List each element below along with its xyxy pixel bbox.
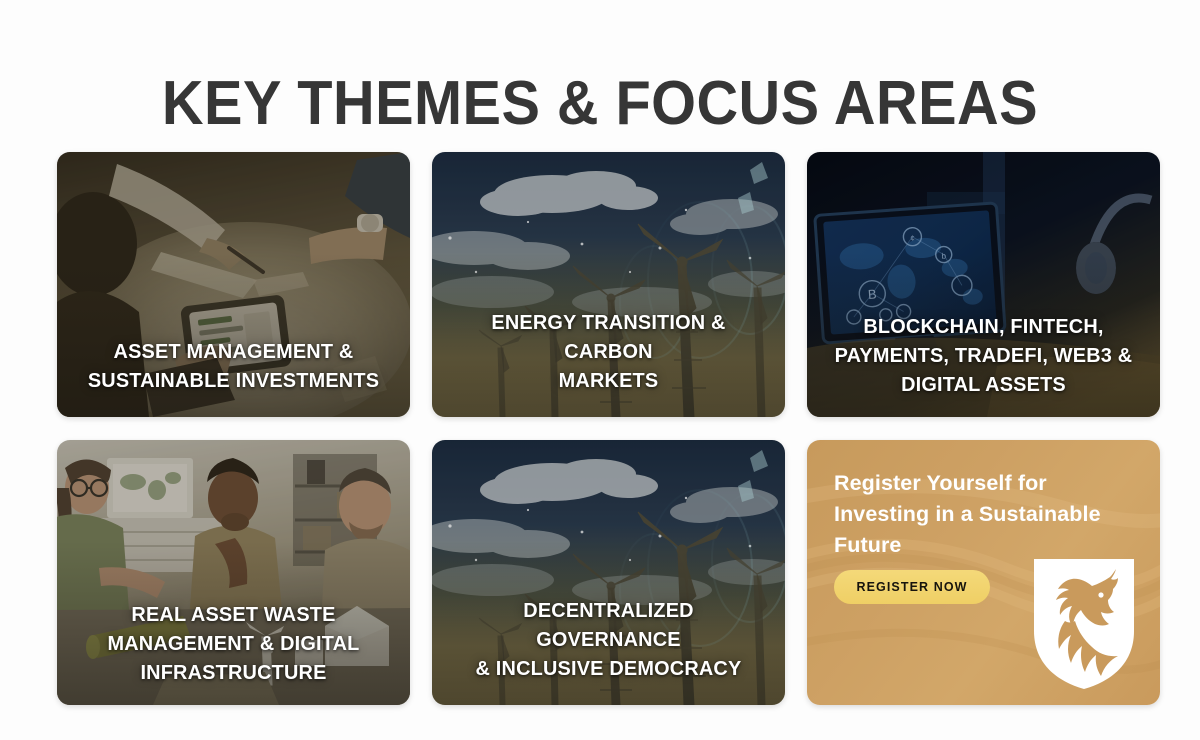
theme-card-caption: ENERGY TRANSITION & CARBON MARKETS <box>453 308 764 395</box>
page-title: KEY THEMES & FOCUS AREAS <box>42 64 1158 144</box>
unicorn-shield-logo <box>1032 555 1136 691</box>
cta-heading: Register Yourself for Investing in a Sus… <box>834 468 1114 561</box>
theme-card-blockchain-fintech[interactable]: B b ¢ <box>807 152 1160 417</box>
caption-line: DIGITAL ASSETS <box>828 370 1139 399</box>
caption-line: ENERGY TRANSITION & CARBON <box>453 308 764 366</box>
caption-line: ASSET MANAGEMENT & <box>78 337 389 366</box>
caption-line: MANAGEMENT & DIGITAL <box>78 629 389 658</box>
caption-line: SUSTAINABLE INVESTMENTS <box>78 366 389 395</box>
theme-card-decentralized-governance[interactable]: DECENTRALIZED GOVERNANCE & INCLUSIVE DEM… <box>432 440 785 705</box>
caption-line: & INCLUSIVE DEMOCRACY <box>453 654 764 683</box>
themes-grid: ASSET MANAGEMENT & SUSTAINABLE INVESTMEN… <box>57 152 1160 709</box>
register-cta-card[interactable]: Register Yourself for Investing in a Sus… <box>807 440 1160 705</box>
register-now-button[interactable]: REGISTER NOW <box>834 570 990 604</box>
theme-card-real-asset-waste[interactable]: REAL ASSET WASTE MANAGEMENT & DIGITAL IN… <box>57 440 410 705</box>
key-themes-section: KEY THEMES & FOCUS AREAS <box>0 0 1200 740</box>
theme-card-energy-transition[interactable]: ENERGY TRANSITION & CARBON MARKETS <box>432 152 785 417</box>
theme-card-caption: ASSET MANAGEMENT & SUSTAINABLE INVESTMEN… <box>78 337 389 395</box>
caption-line: BLOCKCHAIN, FINTECH, <box>828 312 1139 341</box>
theme-card-caption: BLOCKCHAIN, FINTECH, PAYMENTS, TRADEFI, … <box>828 312 1139 399</box>
caption-line: DECENTRALIZED GOVERNANCE <box>453 596 764 654</box>
caption-line: MARKETS <box>453 366 764 395</box>
theme-card-asset-management[interactable]: ASSET MANAGEMENT & SUSTAINABLE INVESTMEN… <box>57 152 410 417</box>
theme-card-caption: REAL ASSET WASTE MANAGEMENT & DIGITAL IN… <box>78 600 389 687</box>
theme-card-caption: DECENTRALIZED GOVERNANCE & INCLUSIVE DEM… <box>453 596 764 683</box>
caption-line: INFRASTRUCTURE <box>78 658 389 687</box>
caption-line: PAYMENTS, TRADEFI, WEB3 & <box>828 341 1139 370</box>
caption-line: REAL ASSET WASTE <box>78 600 389 629</box>
register-now-label: REGISTER NOW <box>856 580 967 594</box>
